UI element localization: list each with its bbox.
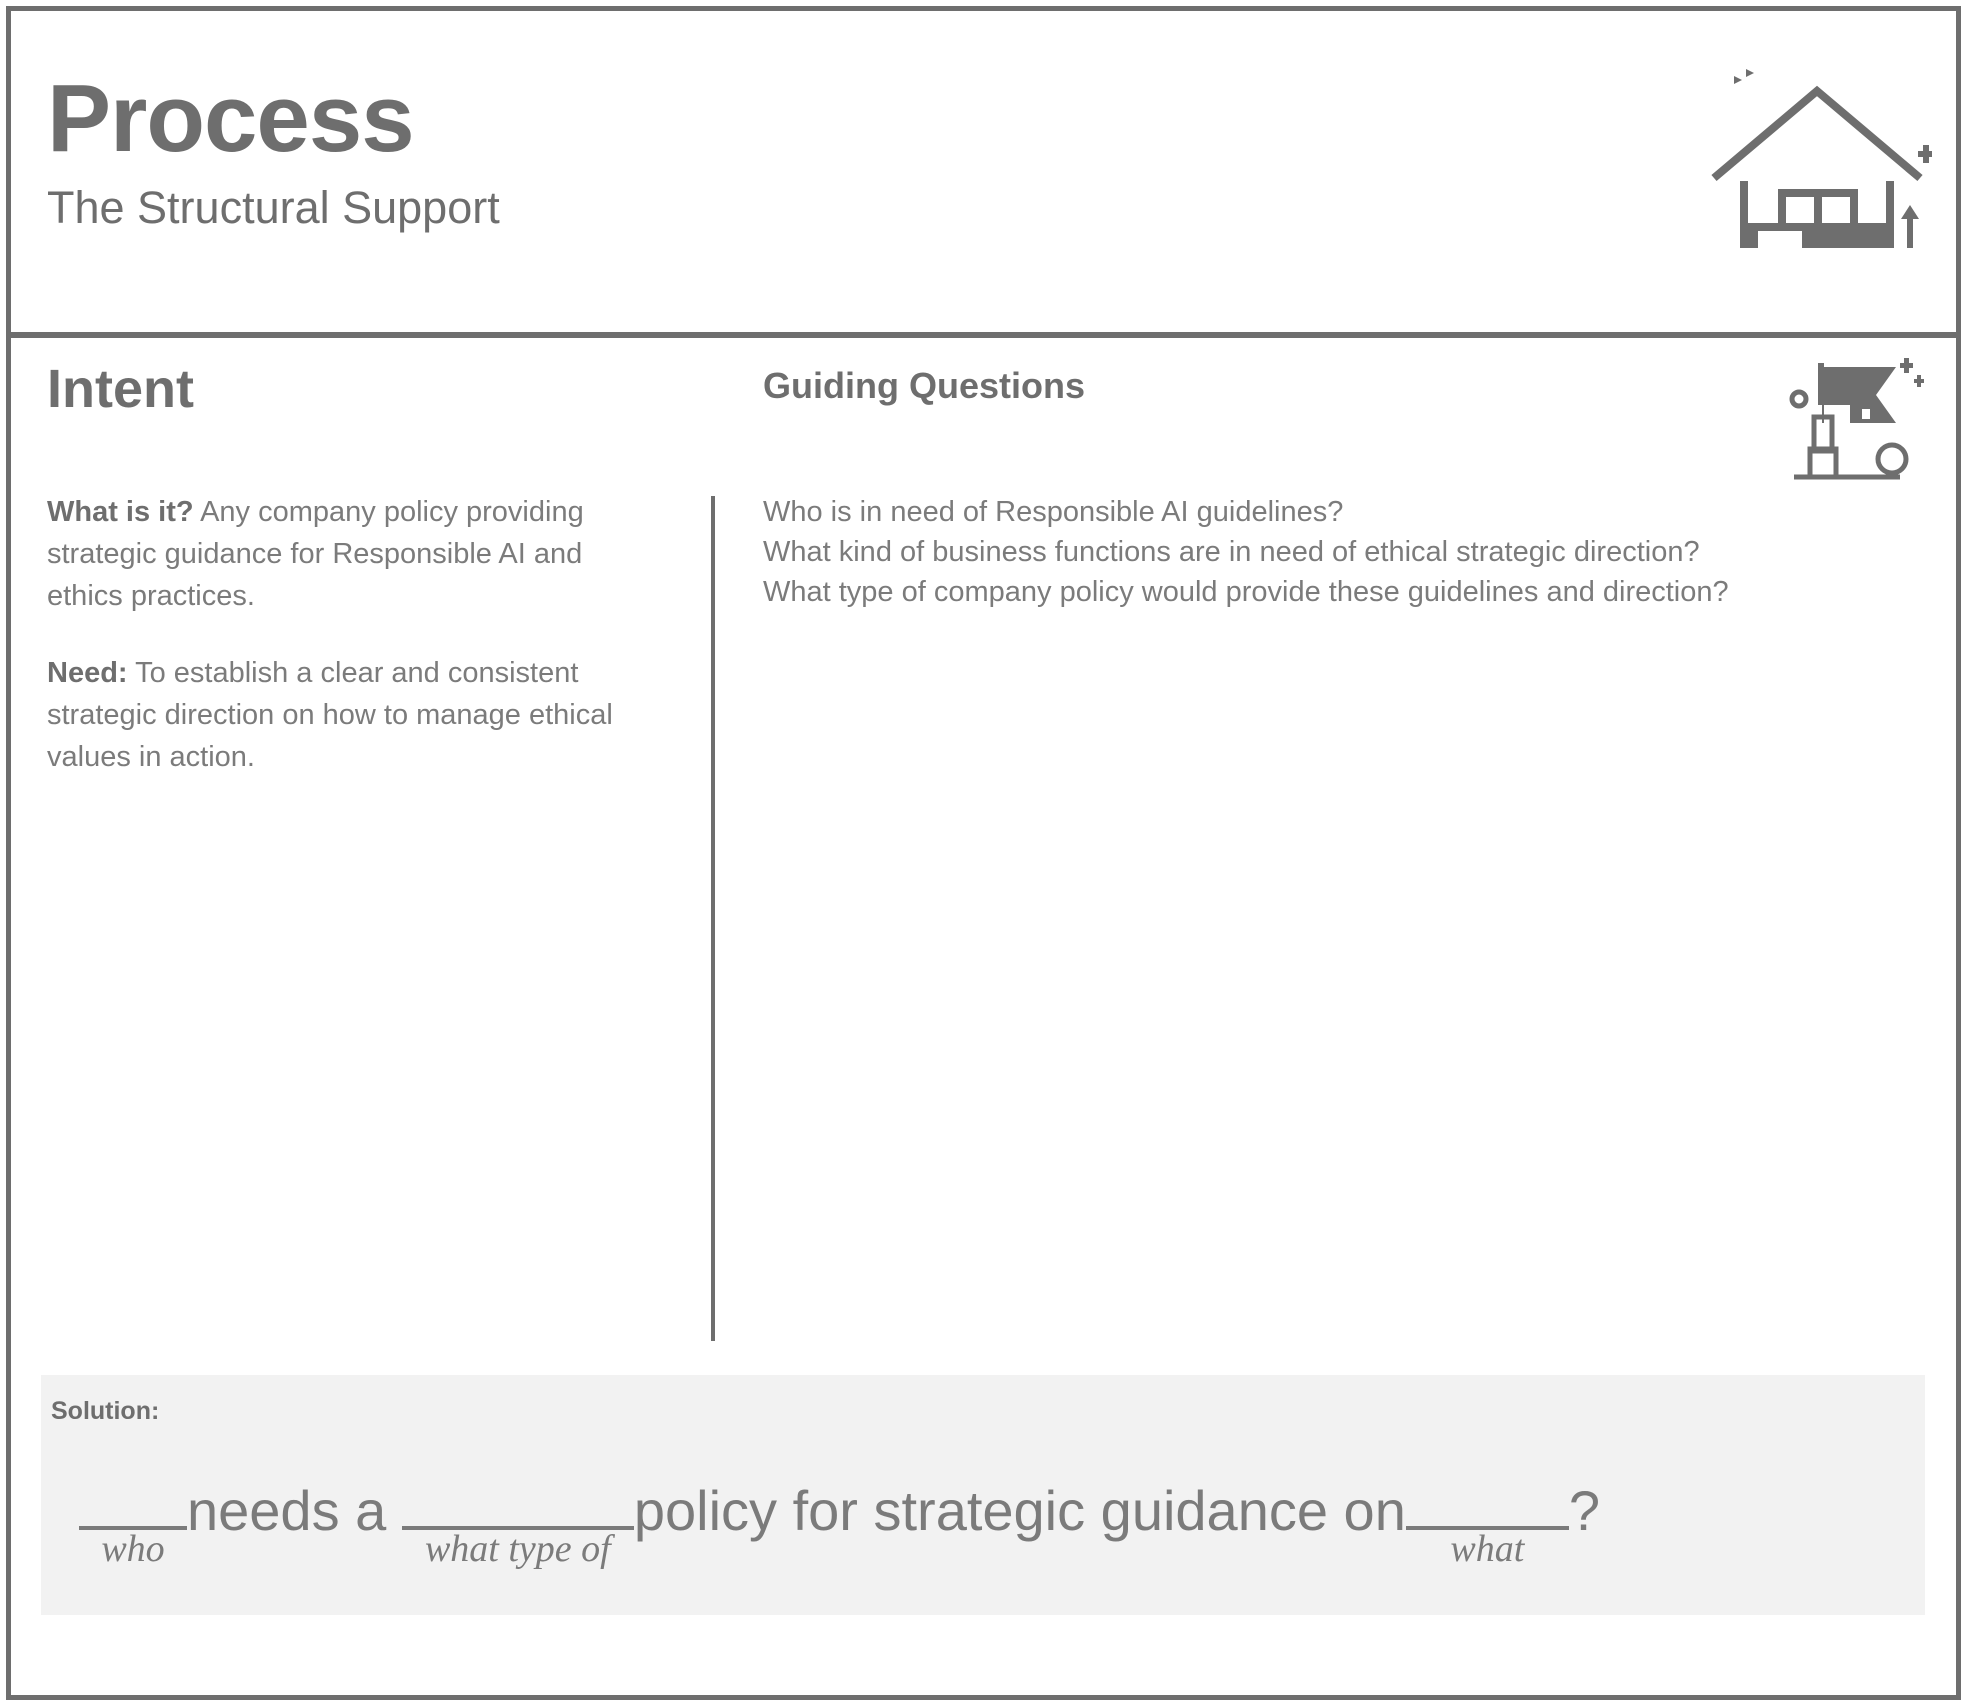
solution-hint-what: what [1406,1526,1569,1574]
guiding-questions-column: Guiding Questions Who is in need of Resp… [763,366,1823,612]
solution-segment-2: policy for strategic guidance on [634,1479,1406,1542]
header: Process The Structural Support [11,11,1956,338]
house-icon [1702,33,1932,253]
intent-label-what-is-it: What is it? [47,496,194,528]
solution-hint-what-type-of: what type of [402,1526,634,1574]
body-area: Intent What is it? Any company policy pr… [11,338,1956,1695]
solution-blank-what[interactable]: what [1406,1526,1569,1530]
title-block: Process The Structural Support [47,69,500,231]
intent-text-need: To establish a clear and consistent stra… [47,657,613,773]
guiding-questions-list: Who is in need of Responsible AI guideli… [763,492,1823,612]
solution-blank-what-type-of[interactable]: what type of [402,1526,634,1530]
solution-sentence: whoneeds a what type ofpolicy for strate… [79,1483,1915,1539]
guiding-question-item: Who is in need of Responsible AI guideli… [763,492,1823,532]
guiding-question-item: What type of company policy would provid… [763,572,1823,612]
solution-segment-1: needs a [187,1479,402,1542]
worksheet-card: Process The Structural Support [6,6,1961,1700]
intent-body: What is it? Any company policy providing… [47,491,637,777]
solution-box: Solution: whoneeds a what type ofpolicy … [41,1375,1925,1615]
guiding-questions-heading: Guiding Questions [763,366,1823,406]
solution-hint-who: who [79,1526,187,1574]
solution-label: Solution: [51,1397,159,1426]
column-divider [711,496,715,1341]
page-subtitle: The Structural Support [47,184,500,231]
intent-heading: Intent [47,360,637,419]
intent-column: Intent What is it? Any company policy pr… [47,360,637,812]
intent-label-need: Need: [47,657,128,689]
solution-segment-3: ? [1569,1479,1600,1542]
solution-blank-who[interactable]: who [79,1526,187,1530]
intent-paragraph-what-is-it: What is it? Any company policy providing… [47,491,627,617]
intent-paragraph-need: Need: To establish a clear and consisten… [47,652,627,778]
guiding-question-item: What kind of business functions are in n… [763,532,1823,572]
page-title: Process [47,69,500,170]
